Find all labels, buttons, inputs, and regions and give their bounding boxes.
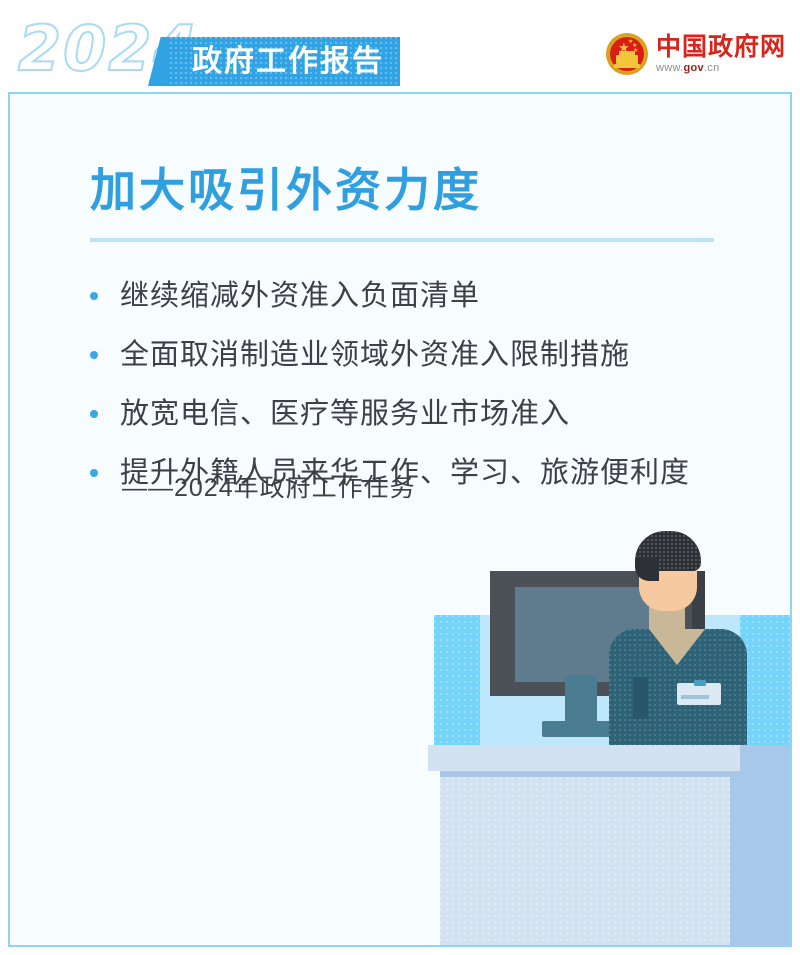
clerk-uniform-pocket bbox=[633, 677, 648, 719]
report-title-badge-label: 政府工作报告 bbox=[192, 47, 384, 77]
gov-site-name: 中国政府网 bbox=[656, 34, 786, 61]
list-item: 放宽电信、医疗等服务业市场准入 bbox=[90, 394, 730, 434]
gov-site-url: www.gov.cn bbox=[656, 61, 786, 75]
government-service-counter-illustration bbox=[10, 525, 792, 945]
counter-top-right-section bbox=[740, 745, 792, 771]
source-attribution: ——2024年政府工作任务 bbox=[122, 468, 416, 504]
bullet-dot-icon bbox=[90, 410, 98, 418]
counter-side-panel bbox=[730, 775, 792, 945]
page-title: 加大吸引外资力度 bbox=[90, 154, 482, 220]
list-item-label: 放宽电信、医疗等服务业市场准入 bbox=[120, 394, 570, 434]
gov-url-prefix: www. bbox=[656, 62, 683, 74]
gov-url-highlight: gov bbox=[683, 62, 703, 74]
bullet-dot-icon bbox=[90, 469, 98, 477]
counter-front-panel bbox=[440, 777, 734, 945]
counter-top-surface bbox=[428, 745, 792, 771]
gov-url-suffix: .cn bbox=[704, 62, 720, 74]
emblem-base bbox=[614, 64, 640, 68]
bullet-dot-icon bbox=[90, 351, 98, 359]
list-item: 全面取消制造业领域外资准入限制措施 bbox=[90, 335, 730, 375]
report-title-badge: 政府工作报告 bbox=[170, 37, 400, 86]
gov-site-logo[interactable]: ★ ★ ★ ★ ★ 中国政府网 www.gov.cn bbox=[606, 33, 786, 75]
clerk-name-badge-clip bbox=[694, 680, 706, 686]
title-divider bbox=[90, 238, 714, 242]
national-emblem-icon: ★ ★ ★ ★ ★ bbox=[606, 33, 648, 75]
gov-logo-text-group: 中国政府网 www.gov.cn bbox=[656, 34, 786, 75]
emblem-gate-lower bbox=[616, 55, 638, 64]
bullet-dot-icon bbox=[90, 292, 98, 300]
clerk-name-badge bbox=[677, 683, 721, 705]
list-item-label: 继续缩减外资准入负面清单 bbox=[120, 276, 480, 316]
page-header: 2024 政府工作报告 ★ ★ ★ ★ ★ 中国政府网 www.gov.cn bbox=[0, 0, 800, 92]
content-frame: 加大吸引外资力度 继续缩减外资准入负面清单 全面取消制造业领域外资准入限制措施 … bbox=[8, 92, 792, 947]
list-item: 继续缩减外资准入负面清单 bbox=[90, 276, 730, 316]
list-item-label: 全面取消制造业领域外资准入限制措施 bbox=[120, 335, 630, 375]
monitor-stand-neck bbox=[565, 675, 597, 727]
report-poster: 2024 政府工作报告 ★ ★ ★ ★ ★ 中国政府网 www.gov.cn bbox=[0, 0, 800, 955]
clerk-name-badge-line bbox=[681, 695, 709, 699]
